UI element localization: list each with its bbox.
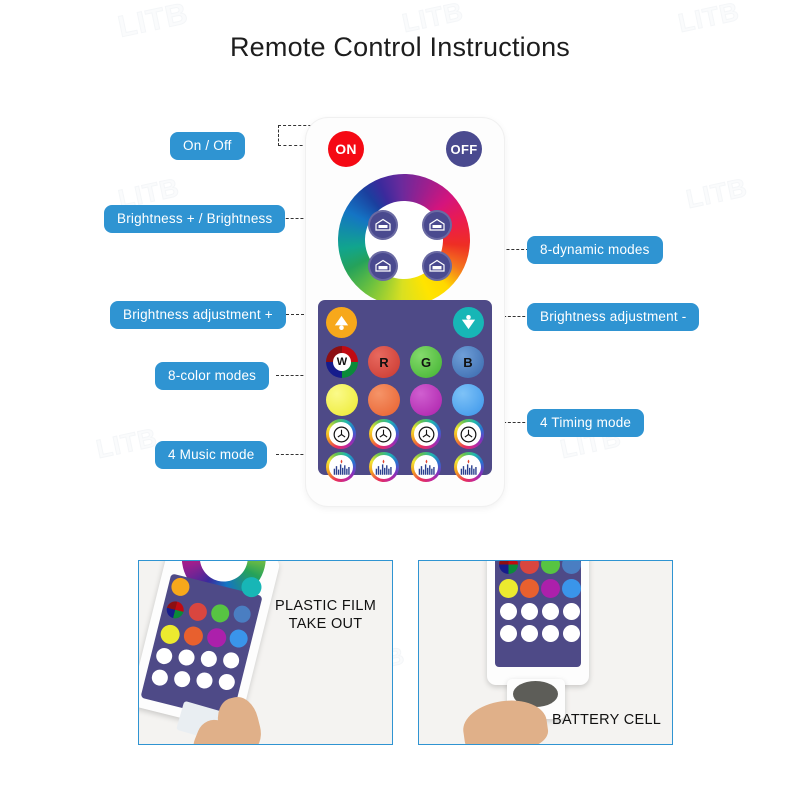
- photo-battery-cell: BATTERY CELL: [418, 560, 673, 745]
- color-button-b[interactable]: B: [452, 346, 484, 378]
- mode-plus-icon: [374, 259, 392, 273]
- mini-timing-4-2: [563, 603, 580, 620]
- rgb-button-row: W R G B: [326, 346, 484, 380]
- mini-timing-3: [199, 649, 218, 668]
- mini-keypad-2: [495, 560, 581, 667]
- mini-music-3: [195, 671, 214, 690]
- keypad-panel: W R G B: [318, 300, 492, 475]
- mini-timing-2: [177, 648, 196, 667]
- mini-color-yellow-2: [499, 579, 518, 598]
- speed-minus-icon: [428, 218, 446, 232]
- mini-timing-4: [221, 651, 240, 670]
- mini-color-skyblue-2: [562, 579, 581, 598]
- mini-music-4: [217, 672, 236, 691]
- timing-button-4[interactable]: [454, 419, 484, 449]
- color-button-yellow[interactable]: [326, 384, 358, 416]
- mini-color-r-2: [520, 560, 539, 574]
- mini-remote-body-2: [487, 560, 589, 685]
- callout-dynamic-modes[interactable]: 8-dynamic modes: [527, 236, 663, 264]
- callout-color-modes[interactable]: 8-color modes: [155, 362, 269, 390]
- clock-2-icon: [374, 425, 393, 444]
- mini-timing-2-2: [521, 603, 538, 620]
- instruction-page: LITB LITB LITB LITB LITB LITB LITB LITB …: [0, 0, 800, 800]
- mini-brightness-up: [170, 576, 192, 598]
- power-on-button[interactable]: ON: [328, 131, 364, 167]
- mini-timing-1: [155, 646, 174, 665]
- callout-on-off[interactable]: On / Off: [170, 132, 245, 160]
- music-button-1[interactable]: [326, 452, 356, 482]
- mini-music-2: [172, 669, 191, 688]
- music-1-icon: [332, 458, 351, 476]
- timing-button-1[interactable]: [326, 419, 356, 449]
- music-3-icon: [417, 458, 436, 476]
- mini-color-orange: [182, 625, 205, 648]
- mini-music-4-2: [563, 625, 580, 642]
- watermark: LITB: [683, 172, 750, 215]
- connector-on-off: [278, 145, 308, 146]
- music-button-row: [326, 452, 484, 486]
- color-button-orange[interactable]: [368, 384, 400, 416]
- arrow-up-icon: [332, 313, 351, 332]
- mini-music-1-2: [500, 625, 517, 642]
- mode-minus-icon: [428, 259, 446, 273]
- mode-down-button[interactable]: [422, 251, 452, 281]
- remote-control: ON OFF: [306, 118, 504, 506]
- clock-4-icon: [459, 425, 478, 444]
- mini-color-b-2: [562, 560, 581, 574]
- mini-music-1: [150, 668, 169, 687]
- music-button-4[interactable]: [454, 452, 484, 482]
- color-button-b-label: B: [463, 355, 472, 370]
- timing-button-2[interactable]: [369, 419, 399, 449]
- callout-music-mode[interactable]: 4 Music mode: [155, 441, 267, 469]
- clock-1-icon: [332, 425, 351, 444]
- mini-music-3-2: [542, 625, 559, 642]
- caption-line-1: BATTERY CELL: [552, 712, 661, 728]
- color-button-magenta[interactable]: [410, 384, 442, 416]
- caption-line-1: PLASTIC FILM: [275, 598, 376, 614]
- speed-down-button[interactable]: [422, 210, 452, 240]
- photo-plastic-film: PLASTIC FILM TAKE OUT: [138, 560, 393, 745]
- callout-brightness-plus[interactable]: Brightness adjustment +: [110, 301, 286, 329]
- brightness-down-button[interactable]: [453, 307, 484, 338]
- callout-brightness-minus[interactable]: Brightness adjustment -: [527, 303, 699, 331]
- arrow-down-icon: [459, 313, 478, 332]
- mini-color-magenta: [205, 626, 228, 649]
- mini-color-r: [187, 601, 209, 623]
- speed-up-button[interactable]: [368, 210, 398, 240]
- timing-button-row: [326, 419, 484, 453]
- mini-color-b: [232, 604, 253, 625]
- connector-on-off-vert: [278, 125, 279, 146]
- mini-color-g: [209, 602, 231, 624]
- watermark: LITB: [93, 422, 160, 465]
- photo-caption-plastic-film: PLASTIC FILM TAKE OUT: [275, 597, 376, 633]
- color-button-r-label: R: [379, 355, 388, 370]
- mini-color-orange-2: [520, 579, 539, 598]
- mini-color-w: [165, 600, 186, 621]
- brightness-up-button[interactable]: [326, 307, 357, 338]
- mini-music-2-2: [521, 625, 538, 642]
- speed-plus-icon: [374, 218, 392, 232]
- mini-color-g-2: [541, 560, 560, 574]
- music-2-icon: [374, 458, 393, 476]
- page-title: Remote Control Instructions: [0, 32, 800, 63]
- mini-timing-3-2: [542, 603, 559, 620]
- color-button-g-label: G: [421, 355, 431, 370]
- color-button-w[interactable]: W: [326, 346, 358, 378]
- photo-caption-battery-cell: BATTERY CELL: [552, 711, 661, 729]
- mini-color-w-2: [499, 560, 518, 574]
- color-button-row: [326, 384, 484, 418]
- music-button-2[interactable]: [369, 452, 399, 482]
- clock-3-icon: [417, 425, 436, 444]
- callout-timing-mode[interactable]: 4 Timing mode: [527, 409, 644, 437]
- callout-brightness-pair[interactable]: Brightness + / Brightness: [104, 205, 285, 233]
- caption-line-2: TAKE OUT: [289, 616, 363, 632]
- mini-color-yellow: [159, 623, 182, 646]
- color-button-r[interactable]: R: [368, 346, 400, 378]
- music-4-icon: [459, 458, 478, 476]
- mini-color-magenta-2: [541, 579, 560, 598]
- mode-up-button[interactable]: [368, 251, 398, 281]
- mini-timing-1-2: [500, 603, 517, 620]
- color-button-skyblue[interactable]: [452, 384, 484, 416]
- color-button-w-label: W: [333, 353, 351, 371]
- music-button-3[interactable]: [411, 452, 441, 482]
- mini-remote-body: [138, 560, 281, 732]
- power-off-button[interactable]: OFF: [446, 131, 482, 167]
- timing-button-3[interactable]: [411, 419, 441, 449]
- mini-color-skyblue: [228, 628, 250, 650]
- color-button-g[interactable]: G: [410, 346, 442, 378]
